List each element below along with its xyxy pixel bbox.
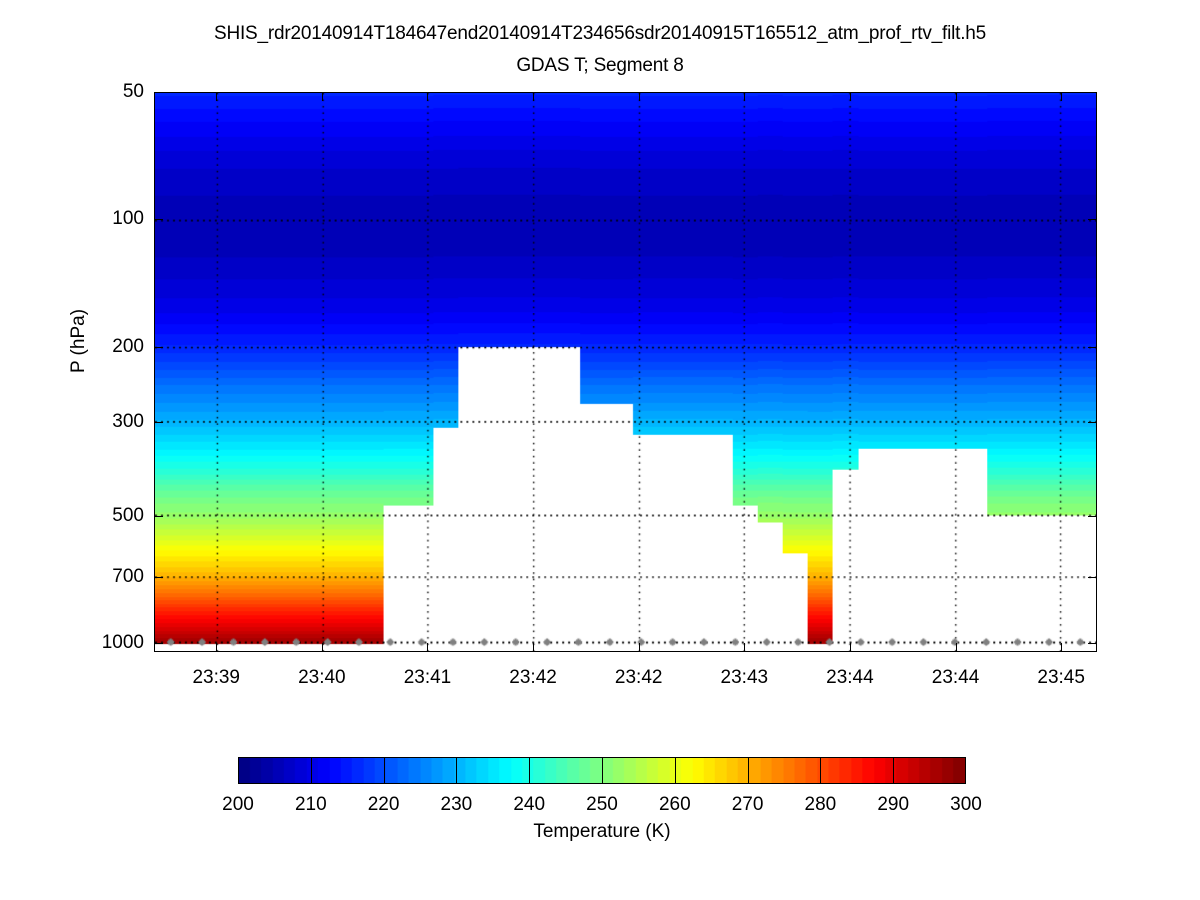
x-tick-mark — [1061, 643, 1062, 652]
colorbar-tick-mark — [311, 757, 312, 784]
x-tick-mark — [850, 643, 851, 652]
heatmap-canvas — [155, 93, 1096, 651]
x-tick-label: 23:41 — [367, 668, 487, 687]
colorbar-tick-label: 300 — [926, 795, 1006, 814]
colorbar-tick-mark — [384, 757, 385, 784]
colorbar-tick-label: 270 — [708, 795, 788, 814]
colorbar-tick-mark — [748, 757, 749, 784]
x-tick-mark — [427, 643, 428, 652]
x-tick-mark-top — [639, 92, 640, 101]
y-tick-mark-right — [1088, 92, 1097, 93]
x-tick-mark-top — [427, 92, 428, 101]
x-tick-label: 23:42 — [473, 668, 593, 687]
y-tick-mark-right — [1088, 219, 1097, 220]
y-tick-mark — [154, 347, 163, 348]
x-tick-mark — [533, 643, 534, 652]
colorbar-tick-label: 200 — [198, 795, 278, 814]
x-tick-label: 23:42 — [579, 668, 699, 687]
x-tick-mark-top — [216, 92, 217, 101]
y-tick-mark-right — [1088, 516, 1097, 517]
x-tick-mark — [216, 643, 217, 652]
y-tick-mark-right — [1088, 422, 1097, 423]
colorbar-tick-label: 240 — [489, 795, 569, 814]
plot-axes — [154, 92, 1097, 652]
y-tick-mark — [154, 643, 163, 644]
figure-title-sub: GDAS T; Segment 8 — [0, 54, 1200, 78]
colorbar-tick-label: 220 — [344, 795, 424, 814]
x-tick-mark — [322, 643, 323, 652]
y-tick-mark — [154, 92, 163, 93]
x-tick-mark-top — [1061, 92, 1062, 101]
colorbar-axis-label: Temperature (K) — [238, 821, 966, 843]
y-tick-mark-right — [1088, 347, 1097, 348]
y-tick-label: 700 — [54, 567, 144, 586]
x-tick-label: 23:44 — [790, 668, 910, 687]
colorbar-tick-mark — [456, 757, 457, 784]
x-tick-mark — [639, 643, 640, 652]
x-tick-mark — [744, 643, 745, 652]
y-tick-label: 300 — [54, 412, 144, 431]
colorbar-tick-label: 280 — [780, 795, 860, 814]
y-tick-label: 50 — [54, 82, 144, 101]
colorbar-tick-label: 210 — [271, 795, 351, 814]
x-tick-mark-top — [322, 92, 323, 101]
colorbar-tick-label: 290 — [853, 795, 933, 814]
y-tick-label: 1000 — [54, 633, 144, 652]
y-tick-label: 500 — [54, 506, 144, 525]
colorbar-tick-mark — [529, 757, 530, 784]
figure-title-main: SHIS_rdr20140914T184647end20140914T23465… — [0, 22, 1200, 46]
colorbar-tick-mark — [602, 757, 603, 784]
y-tick-mark — [154, 577, 163, 578]
colorbar-tick-label: 230 — [416, 795, 496, 814]
colorbar-tick-mark — [820, 757, 821, 784]
y-tick-mark — [154, 516, 163, 517]
x-tick-label: 23:43 — [684, 668, 804, 687]
y-tick-label: 200 — [54, 337, 144, 356]
x-tick-mark-top — [533, 92, 534, 101]
x-tick-mark — [956, 643, 957, 652]
x-tick-label: 23:45 — [1001, 668, 1121, 687]
colorbar-tick-mark — [675, 757, 676, 784]
x-tick-mark-top — [850, 92, 851, 101]
x-tick-mark-top — [744, 92, 745, 101]
x-tick-label: 23:40 — [262, 668, 382, 687]
colorbar-tick-label: 250 — [562, 795, 642, 814]
x-tick-label: 23:39 — [156, 668, 276, 687]
x-tick-label: 23:44 — [896, 668, 1016, 687]
colorbar-tick-label: 260 — [635, 795, 715, 814]
y-tick-mark — [154, 219, 163, 220]
y-tick-mark — [154, 422, 163, 423]
x-tick-mark-top — [956, 92, 957, 101]
colorbar-tick-mark — [893, 757, 894, 784]
y-tick-label: 100 — [54, 209, 144, 228]
y-tick-mark-right — [1088, 577, 1097, 578]
figure-root: SHIS_rdr20140914T184647end20140914T23465… — [0, 0, 1200, 900]
y-tick-mark-right — [1088, 643, 1097, 644]
